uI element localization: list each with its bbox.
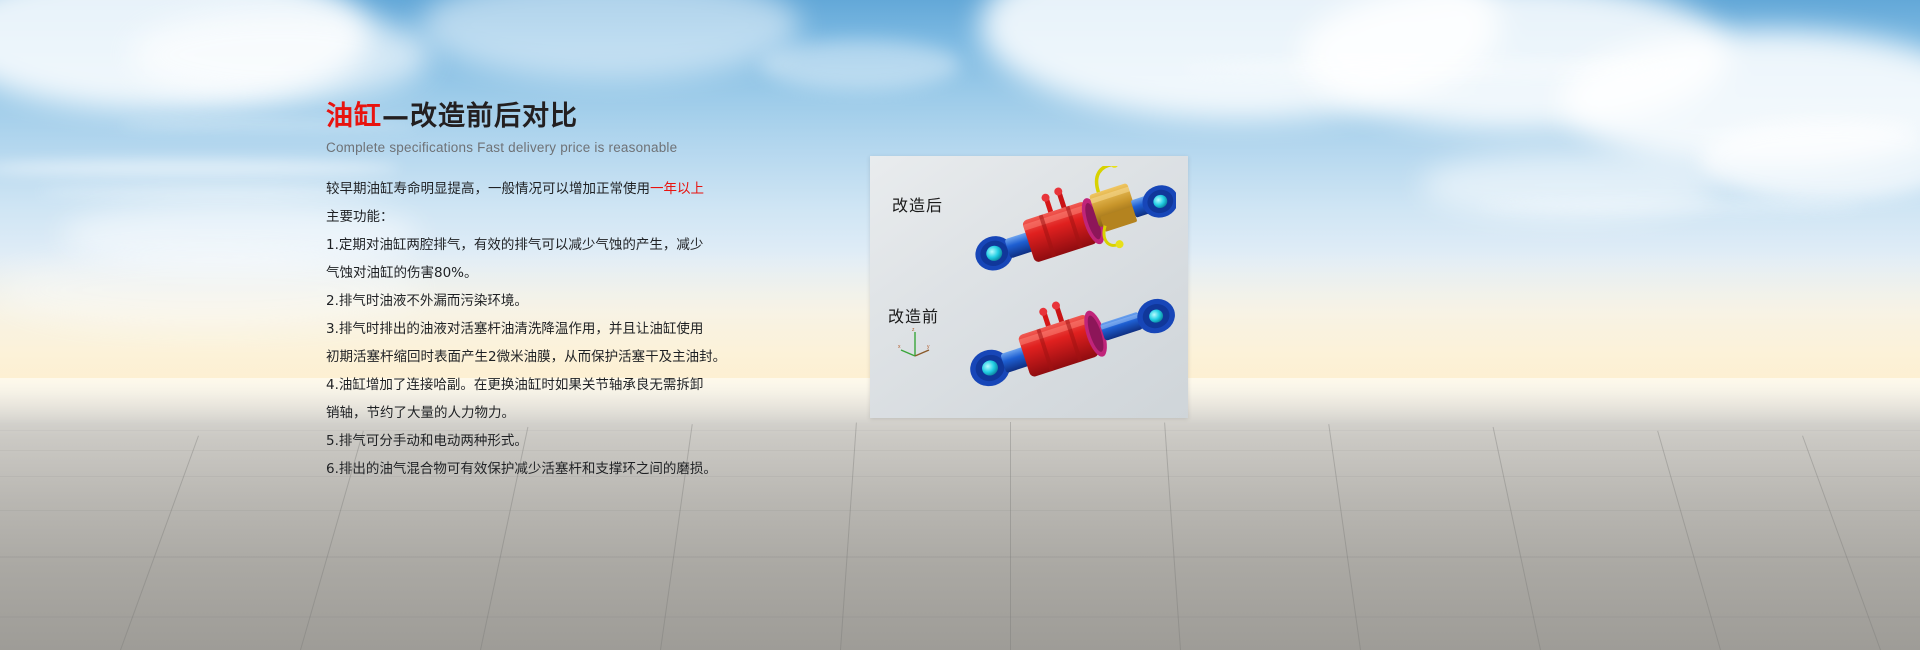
feature-line-5: 2.排气时油液不外漏而污染环境。 [326, 291, 756, 312]
product-image-panel: 改造后 改造前 z x y [870, 156, 1188, 418]
feature-line-11: 6.排出的油气混合物可有效保护减少活塞杆和支撑环之间的磨损。 [326, 459, 756, 480]
banner-root: 油缸—改造前后对比 Complete specifications Fast d… [0, 0, 1920, 650]
title-rest: —改造前后对比 [382, 101, 578, 132]
page-subtitle: Complete specifications Fast delivery pr… [326, 140, 756, 155]
feature-line-8: 4.油缸增加了连接哈副。在更换油缸时如果关节轴承良无需拆卸 [326, 375, 756, 396]
feature-line-7: 初期活塞杆缩回时表面产生2微米油膜，从而保护活塞干及主油封。 [326, 347, 756, 368]
feature-line-4: 气蚀对油缸的伤害80%。 [326, 263, 756, 284]
svg-text:x: x [898, 344, 901, 350]
cylinder-after-modification [966, 166, 1176, 276]
label-after-modification: 改造后 [892, 192, 943, 216]
label-before-modification: 改造前 [888, 303, 939, 327]
feature-line-1: 较早期油缸寿命明显提高，一般情况可以增加正常使用一年以上 [326, 179, 756, 200]
feature-line-9: 销轴，节约了大量的人力物力。 [326, 403, 756, 424]
cylinder-before-modification [962, 276, 1177, 396]
title-highlight: 油缸 [326, 101, 382, 132]
feature-list: 较早期油缸寿命明显提高，一般情况可以增加正常使用一年以上 主要功能： 1.定期对… [326, 179, 756, 480]
svg-text:y: y [927, 344, 930, 350]
feature-line-3: 1.定期对油缸两腔排气，有效的排气可以减少气蚀的产生，减少 [326, 235, 756, 256]
feature-line-6: 3.排气时排出的油液对活塞杆油清洗降温作用，并且让油缸使用 [326, 319, 756, 340]
pavement-ground [0, 378, 1920, 650]
feature-line-10: 5.排气可分手动和电动两种形式。 [326, 431, 756, 452]
page-title: 油缸—改造前后对比 [326, 100, 756, 134]
feature-line-2: 主要功能： [326, 207, 756, 228]
copy-block: 油缸—改造前后对比 Complete specifications Fast d… [326, 100, 756, 487]
axis-triad-icon: z x y [898, 326, 932, 360]
